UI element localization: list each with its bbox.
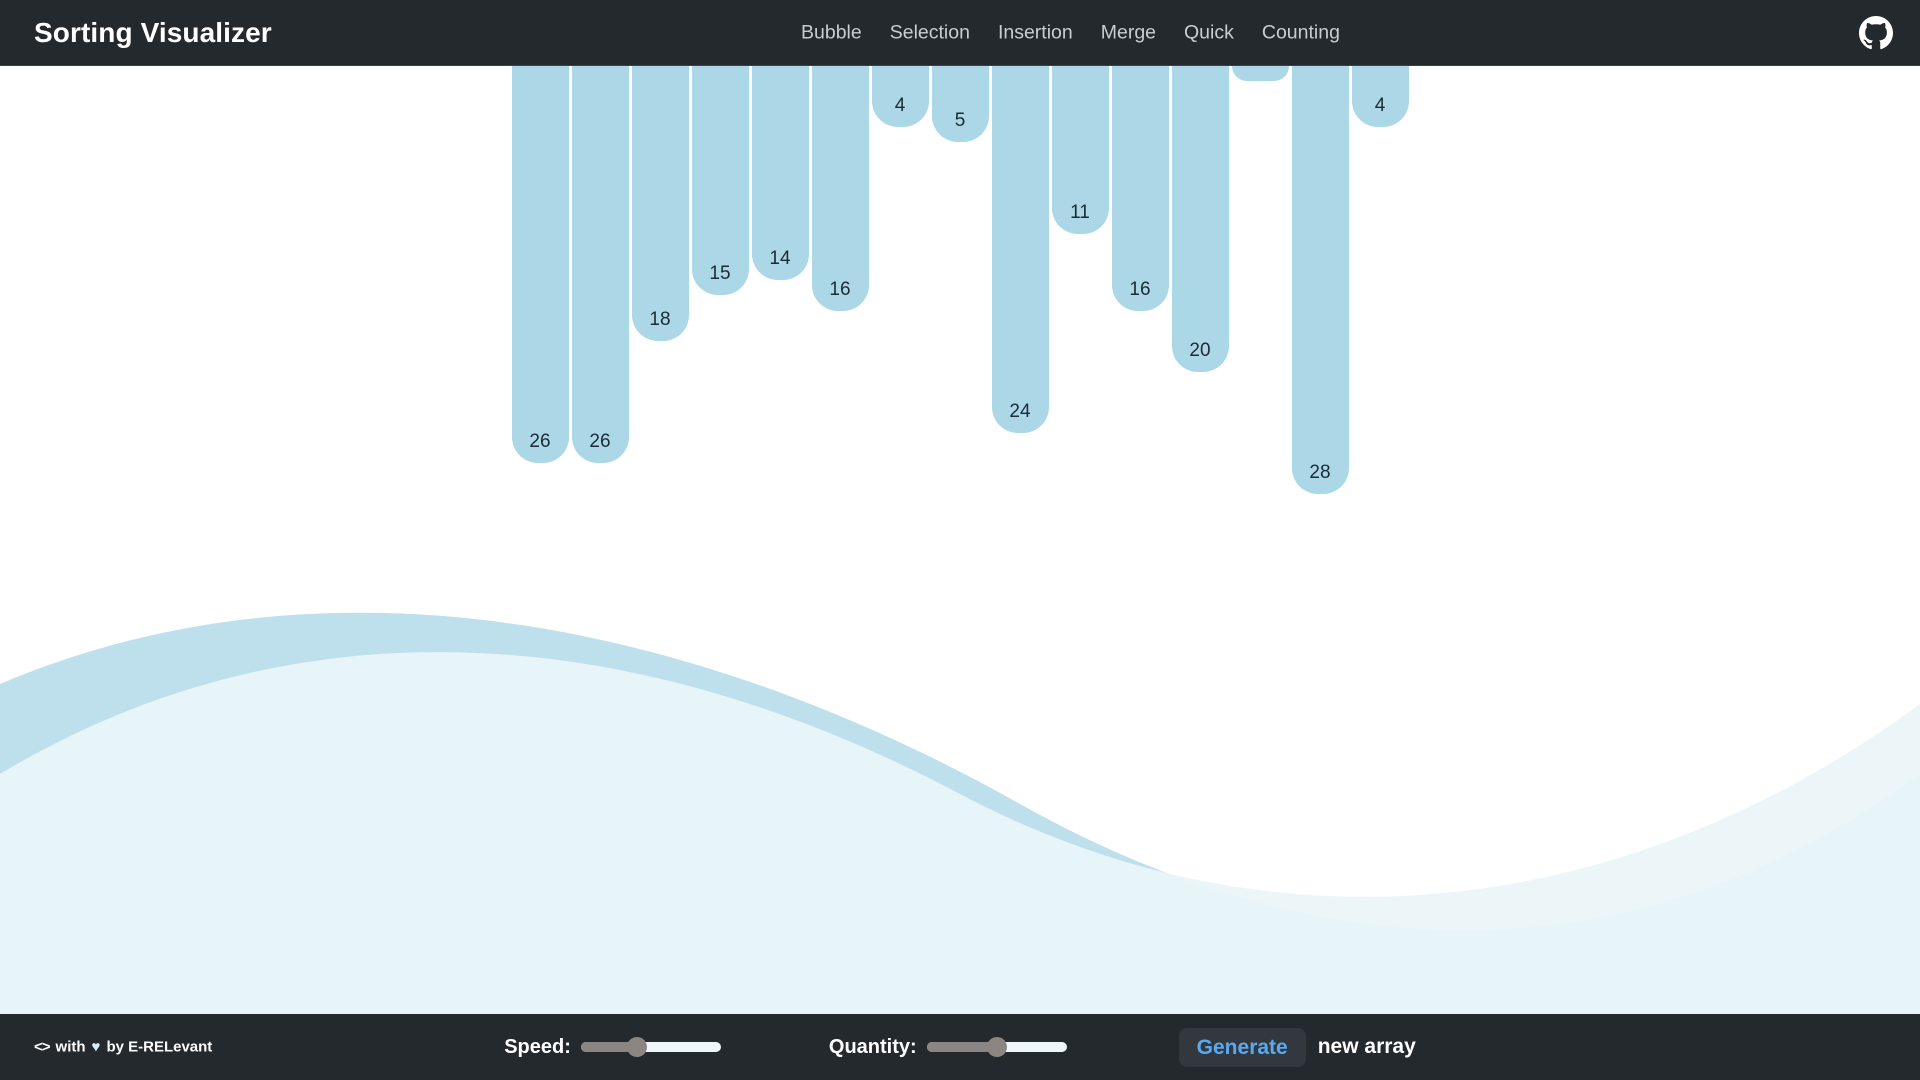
quantity-control-group: Quantity: [829, 1036, 1067, 1059]
quantity-slider-thumb[interactable] [987, 1037, 1007, 1057]
array-bar-value: 4 [1375, 96, 1386, 127]
array-bar-value: 11 [1070, 203, 1090, 234]
array-bar-value: 26 [589, 432, 610, 463]
algorithm-nav: Bubble Selection Insertion Merge Quick C… [787, 23, 1354, 43]
array-bar: 24 [992, 66, 1049, 433]
array-bar: 5 [932, 66, 989, 142]
array-bar: 28 [1292, 66, 1349, 494]
array-bar: 1 [1232, 66, 1289, 81]
nav-link-counting[interactable]: Counting [1248, 23, 1354, 43]
nav-link-merge[interactable]: Merge [1087, 23, 1170, 43]
generate-array-group: Generate new array [1179, 1028, 1416, 1067]
array-bar: 11 [1052, 66, 1109, 234]
array-bar-value: 5 [955, 111, 966, 142]
array-bar: 14 [752, 66, 809, 280]
generate-button[interactable]: Generate [1179, 1028, 1306, 1067]
quantity-label: Quantity: [829, 1036, 917, 1059]
array-bar: 26 [512, 66, 569, 463]
nav-link-selection[interactable]: Selection [876, 23, 984, 43]
array-bar: 16 [1112, 66, 1169, 311]
array-bar-value: 16 [1129, 280, 1150, 311]
array-bar-value: 24 [1009, 402, 1030, 433]
array-bar: 26 [572, 66, 629, 463]
array-bar-value: 4 [895, 96, 906, 127]
nav-link-insertion[interactable]: Insertion [984, 23, 1087, 43]
array-bar: 20 [1172, 66, 1229, 372]
array-bar-value: 28 [1309, 463, 1330, 494]
wave-front-shape [0, 652, 1920, 1034]
array-bar: 15 [692, 66, 749, 295]
speed-slider-thumb[interactable] [627, 1037, 647, 1057]
array-bar: 18 [632, 66, 689, 341]
github-icon [1859, 16, 1893, 50]
array-bars-row: 26261815141645241116201284 [0, 66, 1920, 706]
speed-label: Speed: [504, 1036, 571, 1059]
speed-slider[interactable] [581, 1042, 721, 1052]
array-bar: 4 [872, 66, 929, 127]
array-bar-value: 20 [1189, 341, 1210, 372]
footer-controls: Speed: Quantity: Generate new array [0, 1014, 1920, 1080]
array-bars-stage: 26261815141645241116201284 [0, 66, 1920, 706]
github-link[interactable] [1858, 15, 1894, 51]
nav-link-bubble[interactable]: Bubble [787, 23, 876, 43]
sorting-visualizer-app: Sorting Visualizer Bubble Selection Inse… [0, 0, 1920, 1080]
array-bar-value: 15 [709, 264, 730, 295]
quantity-slider[interactable] [927, 1042, 1067, 1052]
speed-control-group: Speed: [504, 1036, 721, 1059]
array-bar-value: 26 [529, 432, 550, 463]
array-bar: 16 [812, 66, 869, 311]
generate-suffix-label: new array [1318, 1035, 1416, 1059]
array-bar-value: 16 [829, 280, 850, 311]
footer-bar: <> with ♥ by E-RELevant Speed: Quantity: [0, 1014, 1920, 1080]
array-bar: 4 [1352, 66, 1409, 127]
top-navbar: Sorting Visualizer Bubble Selection Inse… [0, 0, 1920, 66]
array-bar-value: 14 [769, 249, 790, 280]
page-title: Sorting Visualizer [34, 17, 272, 49]
array-bar-value: 18 [649, 310, 670, 341]
nav-link-quick[interactable]: Quick [1170, 23, 1248, 43]
